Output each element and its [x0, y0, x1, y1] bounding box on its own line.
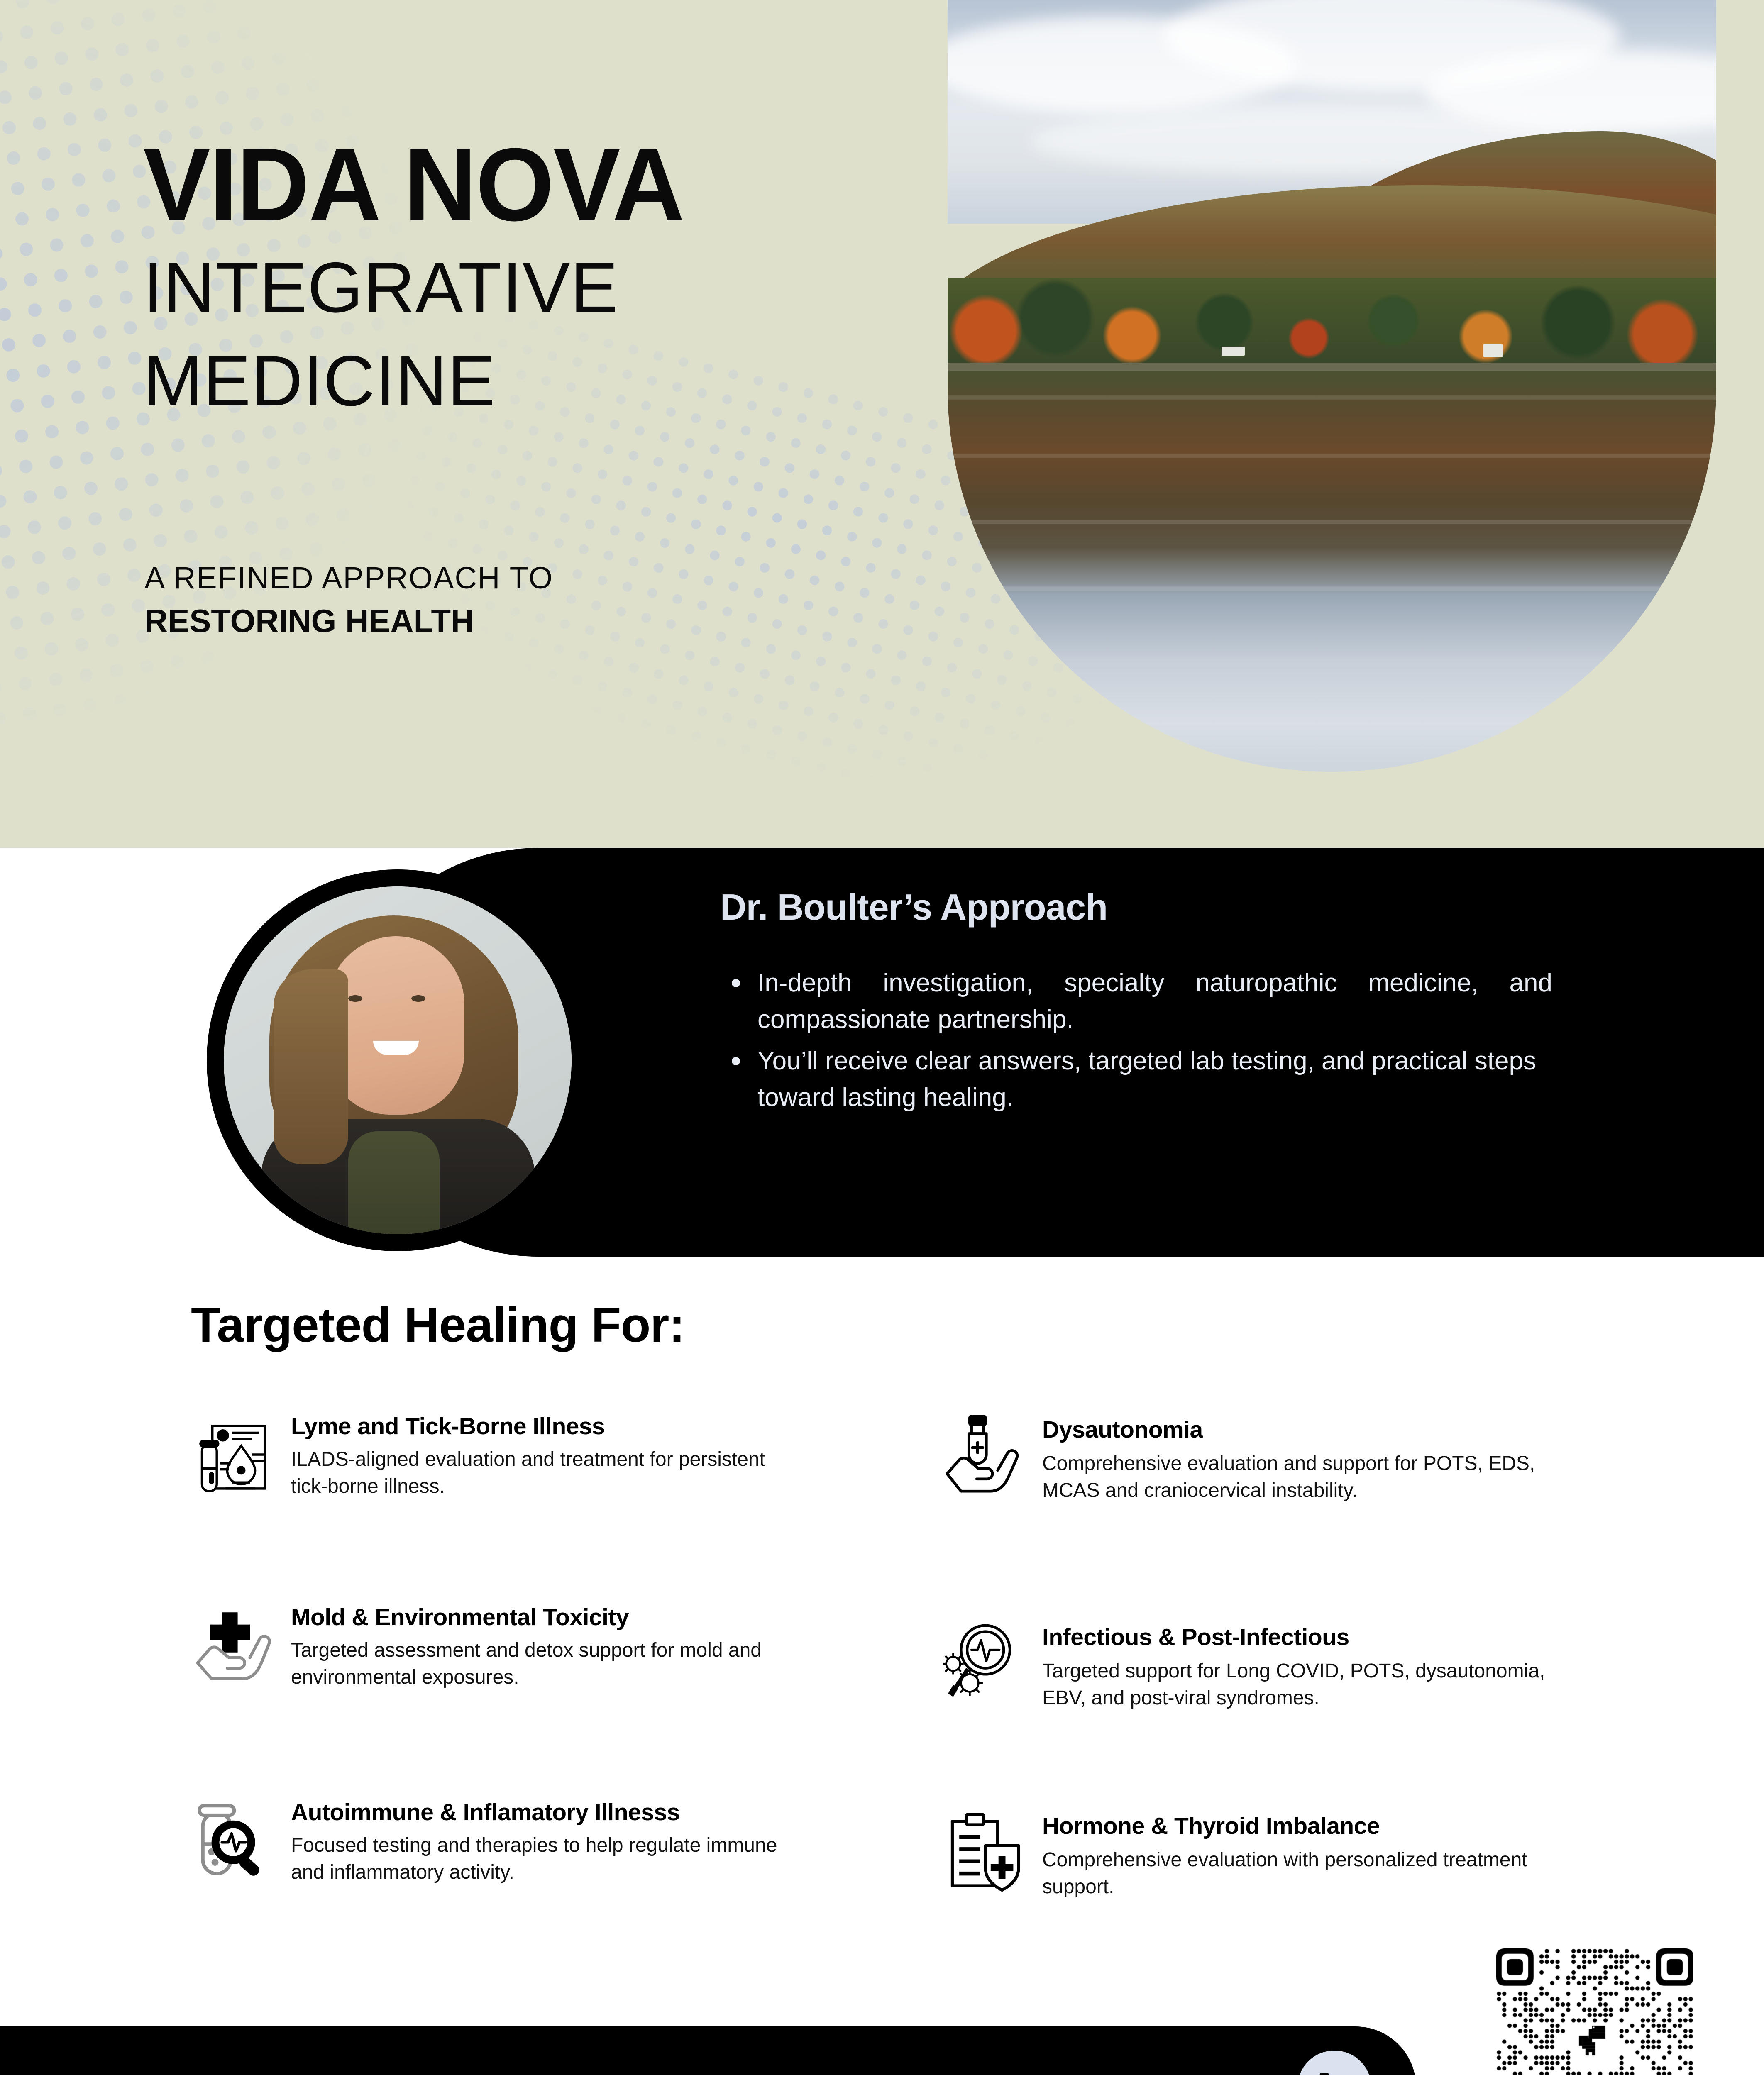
brand-subtitle-line2: MEDICINE: [143, 339, 932, 423]
services-section-title: Targeted Healing For:: [191, 1297, 685, 1353]
brand-block: VIDA NOVA INTEGRATIVE MEDICINE: [143, 133, 932, 423]
test-tube-magnifier-icon: [189, 1797, 276, 1884]
hand-holding-cross-icon: [189, 1602, 276, 1689]
hero-section: VIDA NOVA INTEGRATIVE MEDICINE A REFINED…: [0, 0, 1764, 848]
service-card-autoimmune: Autoimmune & Inflamatory Illnesss Focuse…: [189, 1797, 803, 1886]
service-card-lyme: Lyme and Tick-Borne Illness ILADS-aligne…: [189, 1411, 782, 1500]
service-description: ILADS-aligned evaluation and treatment f…: [291, 1446, 782, 1500]
service-title: Mold & Environmental Toxicity: [291, 1604, 782, 1631]
cta-label: Schedule a complimentary 15-minute disco…: [149, 2068, 944, 2075]
service-title: Autoimmune & Inflamatory Illnesss: [291, 1799, 803, 1826]
service-card-dysautonomia: Dysautonomia Comprehensive evaluation an…: [940, 1411, 1563, 1504]
service-title: Lyme and Tick-Borne Illness: [291, 1413, 782, 1440]
doctor-approach-heading: Dr. Boulter’s Approach: [720, 886, 1426, 928]
hand-holding-vial-icon: [940, 1411, 1027, 1498]
doctor-approach-list: In-depth investigation, specialty naturo…: [720, 965, 1552, 1121]
service-title: Infectious & Post-Infectious: [1042, 1623, 1563, 1651]
lake-water: [948, 371, 1716, 772]
service-card-hormone: Hormone & Thyroid Imbalance Comprehensiv…: [940, 1807, 1563, 1901]
tagline-block: A REFINED APPROACH TO RESTORING HEALTH: [144, 560, 553, 640]
service-description: Comprehensive evaluation with personaliz…: [1042, 1846, 1563, 1901]
qr-code-canvas[interactable]: [1496, 1948, 1693, 2075]
qr-code[interactable]: [1496, 1948, 1693, 2075]
service-card-mold: Mold & Environmental Toxicity Targeted a…: [189, 1602, 782, 1691]
magnifier-virus-icon: [940, 1618, 1027, 1706]
doctor-bullet: In-depth investigation, specialty naturo…: [720, 965, 1552, 1038]
service-description: Targeted assessment and detox support fo…: [291, 1637, 782, 1691]
autumn-forest: [948, 278, 1716, 367]
hero-landscape-photo: [948, 0, 1716, 772]
service-description: Comprehensive evaluation and support for…: [1042, 1450, 1563, 1504]
service-card-infectious: Infectious & Post-Infectious Targeted su…: [940, 1618, 1563, 1712]
lab-report-blood-drop-icon: [189, 1411, 276, 1498]
service-description: Targeted support for Long COVID, POTS, d…: [1042, 1658, 1563, 1712]
doctor-bullet: You’ll receive clear answers, targeted l…: [720, 1043, 1552, 1116]
clipboard-shield-cross-icon: [940, 1807, 1027, 1894]
service-title: Hormone & Thyroid Imbalance: [1042, 1812, 1563, 1840]
brand-subtitle-line1: INTEGRATIVE: [143, 246, 932, 330]
service-title: Dysautonomia: [1042, 1416, 1563, 1443]
tagline-line2: RESTORING HEALTH: [144, 602, 553, 640]
doctor-avatar: [207, 869, 589, 1251]
flyer-page: VIDA NOVA INTEGRATIVE MEDICINE A REFINED…: [0, 0, 1764, 2075]
cta-bar[interactable]: Schedule a complimentary 15-minute disco…: [0, 2026, 1416, 2075]
tagline-line1: A REFINED APPROACH TO: [144, 560, 553, 596]
phone-icon[interactable]: [1297, 2051, 1371, 2075]
brand-name: VIDA NOVA: [143, 133, 908, 237]
service-description: Focused testing and therapies to help re…: [291, 1832, 803, 1886]
